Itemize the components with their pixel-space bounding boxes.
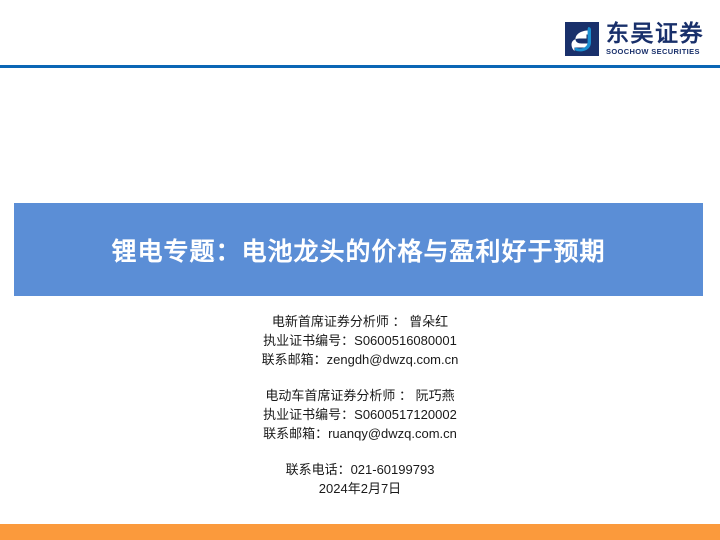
slide-canvas: 东吴证券 SOOCHOW SECURITIES 锂电专题：电池龙头的价格与盈利好…: [0, 0, 720, 540]
footer-accent-bar: [0, 524, 720, 540]
title-banner: 锂电专题：电池龙头的价格与盈利好于预期: [14, 203, 703, 296]
analyst-email: 联系邮箱：zengdh@dwzq.com.cn: [0, 350, 720, 369]
analyst-entry: 电动车首席证券分析师 ： 阮巧燕 执业证书编号：S0600517120002 联…: [0, 386, 720, 443]
page-title: 锂电专题：电池龙头的价格与盈利好于预期: [111, 232, 605, 268]
header-divider: [0, 65, 720, 68]
contact-phone: 联系电话：021-60199793: [0, 460, 720, 479]
contact-entry: 联系电话：021-60199793 2024年2月7日: [0, 460, 720, 498]
analyst-entry: 电新首席证券分析师 ： 曾朵红 执业证书编号：S0600516080001 联系…: [0, 312, 720, 369]
soochow-securities-logo-icon: [565, 22, 599, 56]
brand-logo: 东吴证券 SOOCHOW SECURITIES: [565, 22, 704, 56]
analyst-role: 电新首席证券分析师 ： 曾朵红: [0, 312, 720, 331]
brand-logo-text: 东吴证券 SOOCHOW SECURITIES: [606, 22, 704, 56]
analyst-role: 电动车首席证券分析师 ： 阮巧燕: [0, 386, 720, 405]
analyst-email: 联系邮箱：ruanqy@dwzq.com.cn: [0, 424, 720, 443]
brand-name-cn: 东吴证券: [606, 22, 704, 45]
report-date: 2024年2月7日: [0, 479, 720, 498]
analyst-info-block: 电新首席证券分析师 ： 曾朵红 执业证书编号：S0600516080001 联系…: [0, 312, 720, 498]
analyst-license: 执业证书编号：S0600517120002: [0, 405, 720, 424]
brand-name-en: SOOCHOW SECURITIES: [606, 48, 704, 56]
analyst-license: 执业证书编号：S0600516080001: [0, 331, 720, 350]
